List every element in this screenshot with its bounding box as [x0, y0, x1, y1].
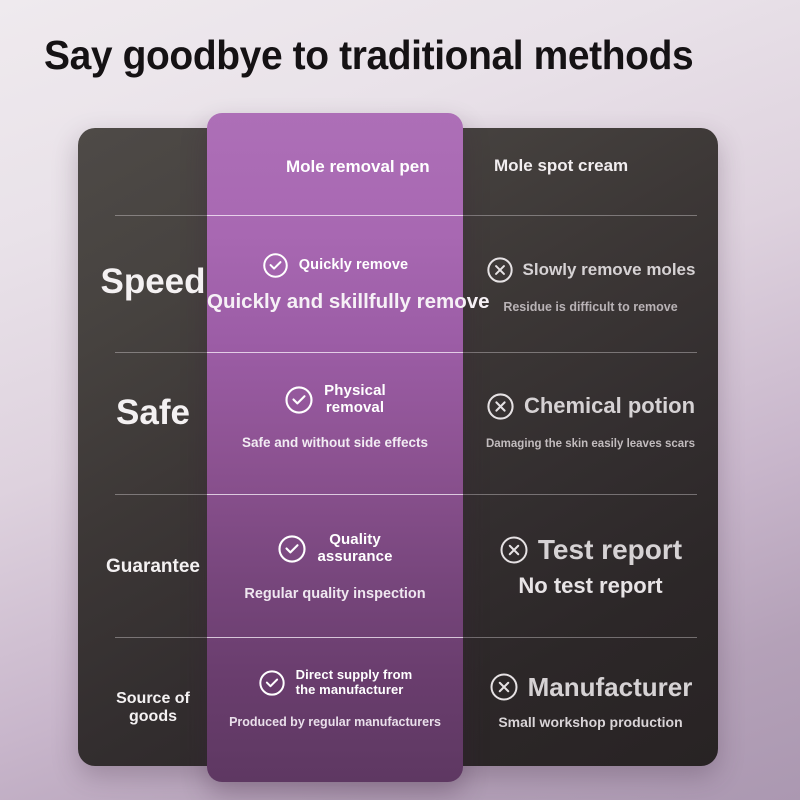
pen-cell-guarantee: Qualityassurance Regular quality inspect…: [207, 532, 463, 602]
comparison-infographic: Say goodbye to traditional methods Mole …: [0, 0, 800, 800]
pen-sub-speed: Quickly and skillfully remove: [207, 290, 463, 314]
pen-cell-source-of-goods: Direct supply fromthe manufacturer Produ…: [207, 668, 463, 729]
pen-cell-headline: Physicalremoval: [207, 383, 463, 417]
pen-cell-speed: Quickly remove Quickly and skillfully re…: [207, 252, 463, 314]
x-circle-icon: [486, 256, 514, 284]
check-circle-icon: [277, 534, 307, 564]
check-circle-icon: [284, 385, 314, 415]
cream-cell-headline: Test report: [463, 535, 718, 566]
check-circle-icon: [258, 669, 286, 697]
column-header-cream: Mole spot cream: [494, 156, 628, 176]
cream-cell-headline: Chemical potion: [463, 392, 718, 421]
row-label-speed: Speed: [88, 262, 218, 301]
pen-title-source-of-goods: Direct supply fromthe manufacturer: [296, 668, 413, 697]
row-divider-highlight: [207, 352, 463, 353]
x-circle-icon: [489, 672, 519, 702]
cream-cell-source-of-goods: Manufacturer Small workshop production: [463, 672, 718, 730]
row-label-safe: Safe: [88, 393, 218, 432]
check-circle-icon: [262, 252, 289, 279]
cream-sub-source-of-goods: Small workshop production: [463, 714, 718, 730]
cream-sub-guarantee: No test report: [463, 573, 718, 598]
pen-title-safe: Physicalremoval: [324, 383, 386, 417]
cream-cell-guarantee: Test report No test report: [463, 535, 718, 598]
cream-cell-headline: Slowly remove moles: [463, 256, 718, 284]
pen-sub-safe: Safe and without side effects: [207, 435, 463, 451]
pen-cell-safe: Physicalremoval Safe and without side ef…: [207, 383, 463, 450]
pen-cell-headline: Quickly remove: [207, 252, 463, 279]
column-header-pen: Mole removal pen: [286, 157, 430, 177]
cream-cell-safe: Chemical potion Damaging the skin easily…: [463, 392, 718, 451]
cream-title-safe: Chemical potion: [524, 394, 695, 418]
pen-sub-source-of-goods: Produced by regular manufacturers: [207, 715, 463, 729]
page-title: Say goodbye to traditional methods: [44, 32, 738, 79]
row-divider-highlight: [207, 637, 463, 638]
cream-title-source-of-goods: Manufacturer: [528, 673, 693, 702]
pen-cell-headline: Qualityassurance: [207, 532, 463, 566]
row-divider-highlight: [207, 494, 463, 495]
cream-sub-speed: Residue is difficult to remove: [463, 300, 718, 314]
x-circle-icon: [499, 535, 529, 565]
cream-cell-headline: Manufacturer: [463, 672, 718, 702]
row-label-source-of-goods: Source ofgoods: [88, 690, 218, 726]
cream-sub-safe: Damaging the skin easily leaves scars: [463, 438, 718, 451]
cream-title-speed: Slowly remove moles: [523, 261, 696, 280]
row-divider-highlight: [207, 215, 463, 216]
cream-title-guarantee: Test report: [538, 535, 682, 566]
row-label-guarantee: Guarantee: [88, 556, 218, 577]
cream-cell-speed: Slowly remove moles Residue is difficult…: [463, 256, 718, 314]
pen-title-speed: Quickly remove: [299, 257, 408, 273]
pen-title-guarantee: Qualityassurance: [317, 532, 392, 566]
pen-cell-headline: Direct supply fromthe manufacturer: [207, 668, 463, 697]
pen-sub-guarantee: Regular quality inspection: [207, 586, 463, 603]
x-circle-icon: [486, 392, 515, 421]
